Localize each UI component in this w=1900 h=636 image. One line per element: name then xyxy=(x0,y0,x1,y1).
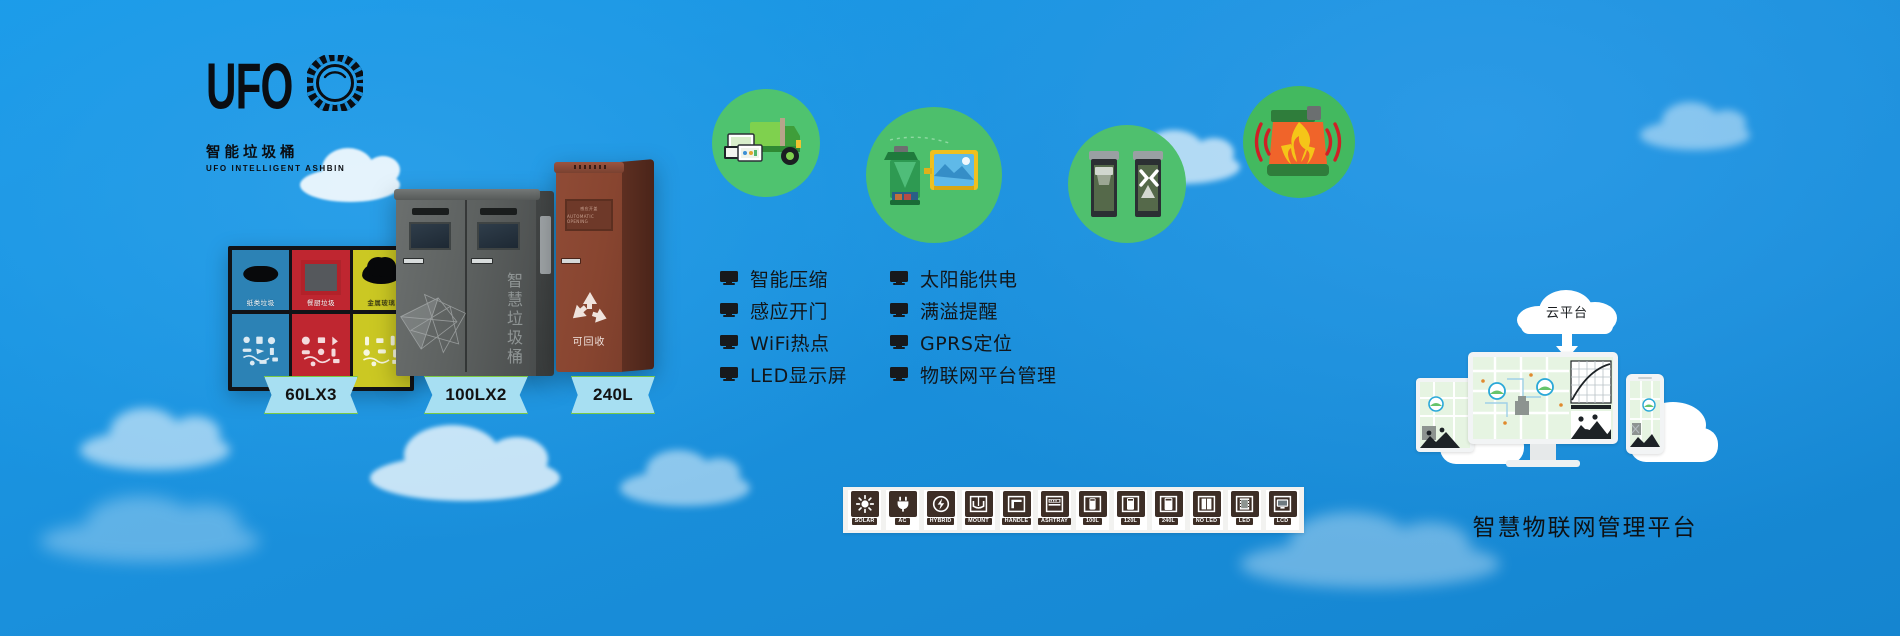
cloud-decoration xyxy=(1240,540,1500,588)
monitor-neck xyxy=(1530,444,1556,460)
polygon-graphic xyxy=(399,275,484,369)
cloud-decoration xyxy=(620,470,750,506)
litter-illustration xyxy=(297,327,345,373)
garbage-truck-icon xyxy=(724,112,808,174)
feature-item: LED显示屏 xyxy=(720,360,847,388)
capacity-label: 60LX3 xyxy=(285,385,337,405)
feature-label: LED显示屏 xyxy=(750,361,847,388)
litter-illustration xyxy=(237,327,285,373)
fire-alarm-bin-circle xyxy=(1243,86,1355,198)
feature-item: 感应开门 xyxy=(720,296,847,324)
power-plug-icon xyxy=(889,491,917,517)
capacity-label: 100LX2 xyxy=(445,385,506,405)
cloud-platform-bubble: 云平台 xyxy=(1517,290,1617,334)
feature-label: WiFi热点 xyxy=(750,329,829,356)
window-line-2: AUTOMATIC OPENING xyxy=(567,214,611,224)
feature-label: 智能压缩 xyxy=(750,265,828,292)
monitor-bullet-icon xyxy=(890,271,908,285)
monitor-bullet-icon xyxy=(890,367,908,381)
bin-card-slot xyxy=(403,258,424,264)
monitor-bullet-icon xyxy=(720,367,738,381)
bin-compartment-paper: 纸类垃圾 xyxy=(232,250,292,387)
bin-display-screen xyxy=(477,222,520,250)
map-dashboard-graphic xyxy=(1420,382,1470,448)
feature-label: GPRS定位 xyxy=(920,329,1012,356)
spec-label: AC xyxy=(895,518,909,525)
product-bin-brown-single: 感应开盖 AUTOMATIC OPENING 可回收 xyxy=(556,170,652,372)
bin-card-slot xyxy=(561,258,581,264)
cloud-decoration xyxy=(370,455,560,501)
solar-compaction-icon xyxy=(878,132,990,218)
compartment-label: 餐厨垃圾 xyxy=(307,297,335,307)
spec-label: 100L xyxy=(1083,518,1102,525)
spec-120l: 120L xyxy=(1114,490,1147,530)
spec-label: 120L xyxy=(1121,518,1140,525)
brand-logo: UFO 智能垃圾桶 UFO INTELLIGENT ASHBIN xyxy=(206,55,326,150)
monitor-bullet-icon xyxy=(720,303,738,317)
lightning-circle-icon xyxy=(927,491,955,517)
smart-collection-truck-circle xyxy=(712,89,820,197)
bin-header-strip xyxy=(480,208,517,215)
feature-list-right: 太阳能供电 满溢提醒 GPRS定位 物联网平台管理 xyxy=(890,264,1057,392)
spec-label: 240L xyxy=(1159,518,1178,525)
feature-item: 智能压缩 xyxy=(720,264,847,292)
capacity-label: 240L xyxy=(593,385,633,405)
spec-label: ASHTRAY xyxy=(1038,518,1071,525)
ufo-ring-icon xyxy=(307,55,363,111)
spec-no-led: NO LED xyxy=(1190,490,1223,530)
bin-display-screen xyxy=(409,222,452,250)
iot-dashboard-graphic xyxy=(1473,357,1613,439)
monitor-base xyxy=(1506,460,1580,467)
lcd-screen-icon xyxy=(1269,491,1297,517)
product-bin-3-compartment: 纸类垃圾 xyxy=(228,246,414,391)
bin-side-window xyxy=(540,216,551,274)
recycle-icon xyxy=(570,290,610,326)
sensor-bins-circle xyxy=(1068,125,1186,243)
panel-blank-icon xyxy=(1193,491,1221,517)
bin-100l-icon xyxy=(1079,491,1107,517)
spec-ashtray: ASHTRAY xyxy=(1038,490,1071,530)
bin-top-cap xyxy=(394,189,540,200)
window-slot-icon xyxy=(301,260,341,295)
solar-compaction-bin-circle xyxy=(866,107,1002,243)
spec-led: LED xyxy=(1228,490,1261,530)
feature-item: WiFi热点 xyxy=(720,328,847,356)
monitor-screen xyxy=(1473,357,1613,439)
spec-mount: MOUNT xyxy=(962,490,995,530)
spec-label: LCD xyxy=(1274,518,1292,525)
fire-alarm-icon xyxy=(1253,102,1345,182)
phone-speaker xyxy=(1638,377,1652,379)
oval-slot-icon xyxy=(243,266,279,282)
marketing-banner: UFO 智能垃圾桶 UFO INTELLIGENT ASHBIN 纸类垃圾 xyxy=(0,0,1900,636)
cloud-decoration xyxy=(40,520,260,562)
bin-120l-icon xyxy=(1117,491,1145,517)
cloud-decoration xyxy=(1640,120,1750,150)
monitor-bullet-icon xyxy=(890,303,908,317)
monitor-bezel xyxy=(1468,352,1618,444)
cloud-decoration xyxy=(300,168,400,202)
monitor-bullet-icon xyxy=(720,335,738,349)
handle-icon xyxy=(1003,491,1031,517)
spec-label: SOLAR xyxy=(852,518,878,525)
smartphone-device xyxy=(1626,374,1664,454)
spec-label: HANDLE xyxy=(1002,518,1032,525)
spec-solar: SOLAR xyxy=(848,490,881,530)
iot-platform-illustration: 云平台 xyxy=(1440,290,1720,500)
feature-item: 太阳能供电 xyxy=(890,264,1057,292)
tablet-screen xyxy=(1420,382,1470,448)
phone-screen xyxy=(1630,381,1660,447)
cloud-slot-icon xyxy=(362,262,400,284)
ashtray-icon xyxy=(1041,491,1069,517)
spec-240l: 240L xyxy=(1152,490,1185,530)
spec-label: HYBRID xyxy=(927,518,955,525)
led-panel-icon xyxy=(1231,491,1259,517)
compartment-label: 金属玻璃 xyxy=(367,297,395,307)
bin-card-slot xyxy=(471,258,492,264)
bin-compartment-kitchen: 餐厨垃圾 xyxy=(292,250,352,387)
spec-label: MOUNT xyxy=(965,518,992,525)
wall-mount-icon xyxy=(965,491,993,517)
bin-vertical-text: 智慧垃圾桶 xyxy=(501,272,525,367)
spec-ac: AC xyxy=(886,490,919,530)
sun-icon xyxy=(851,491,879,517)
feature-item: 物联网平台管理 xyxy=(890,360,1057,388)
capacity-banner-240l: 240L xyxy=(571,376,655,414)
platform-title: 智慧物联网管理平台 xyxy=(1435,508,1735,542)
spec-100l: 100L xyxy=(1076,490,1109,530)
logo-english-name: UFO INTELLIGENT ASHBIN xyxy=(206,164,326,173)
spec-lcd: LCD xyxy=(1266,490,1299,530)
monitor-bullet-icon xyxy=(890,335,908,349)
logo-wordmark: UFO xyxy=(206,57,293,119)
bin-display-window: 感应开盖 AUTOMATIC OPENING xyxy=(565,199,613,231)
compartment-label: 纸类垃圾 xyxy=(247,297,275,307)
bin-header-strip xyxy=(412,208,449,215)
map-mobile-graphic xyxy=(1630,381,1660,447)
tablet-device xyxy=(1416,378,1474,452)
bin-240l-icon xyxy=(1155,491,1183,517)
spec-icon-bar: SOLAR AC HYBRID MOUNT xyxy=(843,487,1304,533)
product-bin-double-grey: 智慧垃圾桶 xyxy=(396,196,538,376)
feature-item: 满溢提醒 xyxy=(890,296,1057,324)
monitor-bullet-icon xyxy=(720,271,738,285)
feature-list-left: 智能压缩 感应开门 WiFi热点 LED显示屏 xyxy=(720,264,847,392)
capacity-banner-100lx2: 100LX2 xyxy=(424,376,528,414)
feature-item: GPRS定位 xyxy=(890,328,1057,356)
cloud-decoration xyxy=(80,430,230,470)
capacity-banner-60lx3: 60LX3 xyxy=(264,376,358,414)
window-line-1: 感应开盖 xyxy=(580,206,598,212)
logo-chinese-name: 智能垃圾桶 xyxy=(206,141,326,162)
feature-label: 物联网平台管理 xyxy=(920,361,1057,388)
spec-handle: HANDLE xyxy=(1000,490,1033,530)
bin-side-panel xyxy=(620,159,654,372)
feature-label: 太阳能供电 xyxy=(920,265,1018,292)
feature-label: 满溢提醒 xyxy=(920,297,998,324)
spec-label: NO LED xyxy=(1193,518,1221,525)
feature-label: 感应开门 xyxy=(750,297,828,324)
bin-vent-dots xyxy=(574,165,606,169)
sensor-bins-icon xyxy=(1079,145,1175,223)
spec-hybrid: HYBRID xyxy=(924,490,957,530)
desktop-monitor-device xyxy=(1468,352,1618,472)
cloud-platform-label: 云平台 xyxy=(1517,302,1617,321)
recycle-label: 可回收 xyxy=(556,333,622,348)
spec-label: LED xyxy=(1236,518,1253,525)
